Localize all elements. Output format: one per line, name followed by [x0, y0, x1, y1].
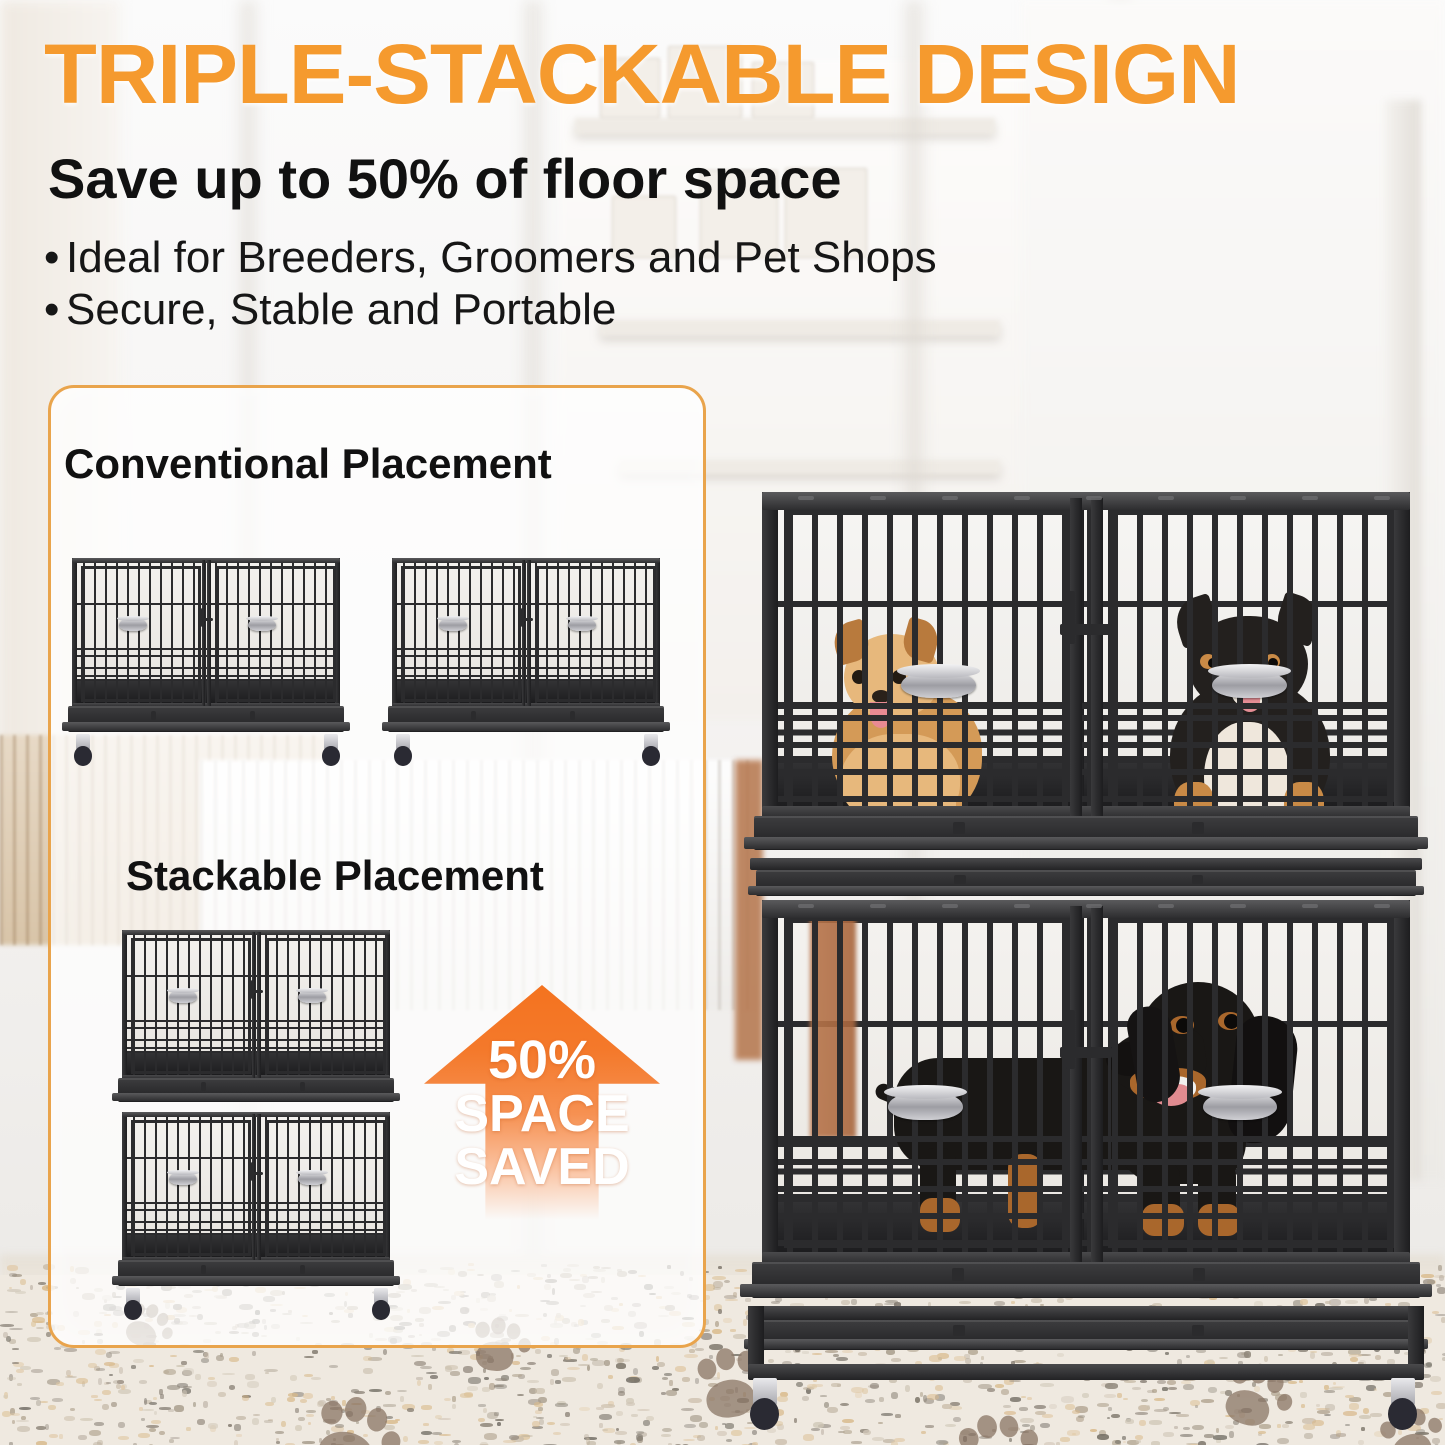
list-item: •Secure, Stable and Portable	[44, 284, 937, 336]
space-saved-text: 50% SPACE SAVED	[424, 1033, 660, 1194]
marketing-image: TRIPLE-STACKABLE DESIGN Save up to 50% o…	[0, 0, 1445, 1445]
conventional-placement-label: Conventional Placement	[64, 440, 552, 488]
background-wood-post	[735, 760, 763, 1060]
bullet-marker: •	[44, 232, 66, 284]
bullet-text: Ideal for Breeders, Groomers and Pet Sho…	[66, 233, 937, 282]
space-saved-badge: 50% SPACE SAVED	[424, 985, 660, 1220]
list-item: •Ideal for Breeders, Groomers and Pet Sh…	[44, 232, 937, 284]
feature-bullet-list: •Ideal for Breeders, Groomers and Pet Sh…	[44, 232, 937, 336]
bullet-text: Secure, Stable and Portable	[66, 285, 616, 334]
savings-percent: 50%	[424, 1033, 660, 1088]
subheadline: Save up to 50% of floor space	[48, 148, 842, 210]
page-title: TRIPLE-STACKABLE DESIGN	[44, 28, 1445, 120]
savings-word-space: SPACE	[424, 1088, 660, 1141]
bullet-marker: •	[44, 284, 66, 336]
savings-word-saved: SAVED	[424, 1141, 660, 1194]
stackable-placement-label: Stackable Placement	[126, 852, 544, 900]
